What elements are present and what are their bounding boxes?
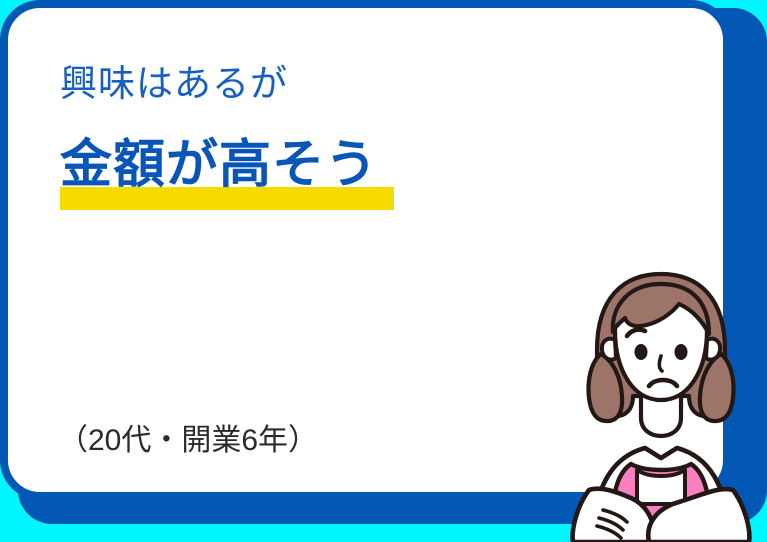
eye-left	[635, 344, 648, 360]
eye-right	[675, 344, 688, 360]
ear-left	[602, 339, 616, 360]
lead-line: 興味はあるが	[60, 65, 288, 102]
headline-block: 金額が高そう	[60, 139, 378, 191]
attribution-text: （20代・開業6年）	[58, 426, 318, 456]
ear-right	[706, 339, 720, 360]
headline-text: 金額が高そう	[60, 139, 378, 191]
slide-canvas: 興味はあるが 金額が高そう （20代・開業6年）	[0, 0, 767, 542]
persona-illustration	[553, 258, 767, 542]
worried-woman-illustration	[553, 258, 767, 542]
apron-bib-panel	[637, 470, 685, 504]
